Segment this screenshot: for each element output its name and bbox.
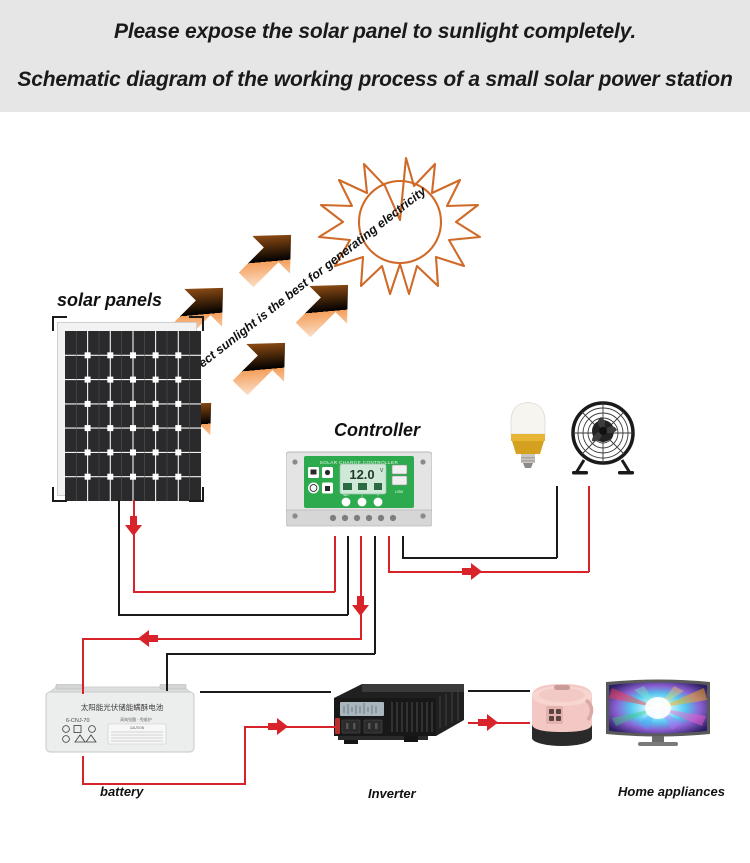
charge-controller[interactable]: SOLAR CHARGE CONTROLLER 12.0 V SET △ ▽ U… <box>286 450 432 536</box>
wire-load-pos-up <box>588 486 590 572</box>
wire-battery-bottom-h <box>82 783 246 785</box>
wire-battery-to-inverter-pos <box>244 726 336 728</box>
wire-bus-to-battery-pos <box>82 638 362 640</box>
flow-arrow-to-appliances <box>478 714 498 736</box>
wire-battery-neg-down <box>166 653 168 691</box>
wire-inverter-to-appliance-neg <box>468 690 530 692</box>
flow-arrow-to-inverter <box>268 718 288 740</box>
panel-corner-tr <box>189 316 204 331</box>
home-appliances-label: Home appliances <box>618 784 725 799</box>
wire-panel-pos-down <box>133 500 135 592</box>
solar-cell-grid <box>65 331 201 501</box>
solar-panel-body <box>57 322 197 496</box>
svg-text:高纯铅酸 · 免维护: 高纯铅酸 · 免维护 <box>120 716 152 722</box>
flow-arrow-controller-down <box>352 596 369 621</box>
wire-load-neg-up <box>556 486 558 558</box>
diagram-canvas: Please expose the solar panel to sunligh… <box>0 0 750 863</box>
wire-controller-term3 <box>360 536 362 640</box>
svg-text:太阳能光伏储能螨酥电池: 太阳能光伏储能螨酥电池 <box>81 702 164 712</box>
solar-panels-label: solar panels <box>57 290 162 311</box>
controller-label: Controller <box>334 420 420 441</box>
wire-battery-bottom-down <box>82 756 84 784</box>
flow-arrow-to-load <box>462 563 482 585</box>
battery-label: battery <box>100 784 143 799</box>
header-line-1: Please expose the solar panel to sunligh… <box>0 20 750 44</box>
battery[interactable]: 太阳能光伏储能螨酥电池 6-CNJ-70 高纯铅酸 · 免维护 CAUTION <box>44 684 200 756</box>
desk-fan <box>566 400 640 476</box>
wire-inverter-pos-up <box>244 726 246 784</box>
wire-controller-term6 <box>402 536 404 558</box>
svg-text:6-CNJ-70: 6-CNJ-70 <box>66 718 90 724</box>
panel-corner-br <box>189 487 204 502</box>
wire-bus-to-battery-neg <box>166 653 375 655</box>
panel-corner-tl <box>52 316 67 331</box>
svg-text:USB: USB <box>395 489 404 494</box>
wire-panel-neg-to-controller <box>118 614 348 616</box>
wire-controller-term4 <box>374 536 376 654</box>
flow-arrow-to-battery <box>138 630 158 652</box>
wire-panel-neg-down <box>118 500 120 615</box>
header-line-2: Schematic diagram of the working process… <box>0 68 750 92</box>
svg-text:CAUTION: CAUTION <box>130 726 145 730</box>
wire-battery-pos-down <box>82 638 84 694</box>
header-band <box>0 0 750 112</box>
wire-controller-term1 <box>334 536 336 592</box>
svg-text:SET: SET <box>343 493 349 497</box>
flow-arrow-panel-down <box>125 516 142 541</box>
curved-tv <box>604 678 712 750</box>
led-bulb <box>505 398 551 476</box>
solar-panel[interactable] <box>52 316 204 502</box>
svg-text:12.0: 12.0 <box>349 467 374 482</box>
wire-load-neg-h <box>402 557 557 559</box>
inverter[interactable] <box>330 676 468 750</box>
wire-controller-term5 <box>388 536 390 572</box>
wire-controller-term2 <box>347 536 349 615</box>
wire-panel-pos-to-controller <box>133 591 335 593</box>
wire-load-pos-h <box>388 571 589 573</box>
rice-cooker <box>526 676 598 748</box>
panel-corner-bl <box>52 487 67 502</box>
inverter-label: Inverter <box>368 786 416 801</box>
wire-battery-to-inverter-neg <box>200 691 331 693</box>
